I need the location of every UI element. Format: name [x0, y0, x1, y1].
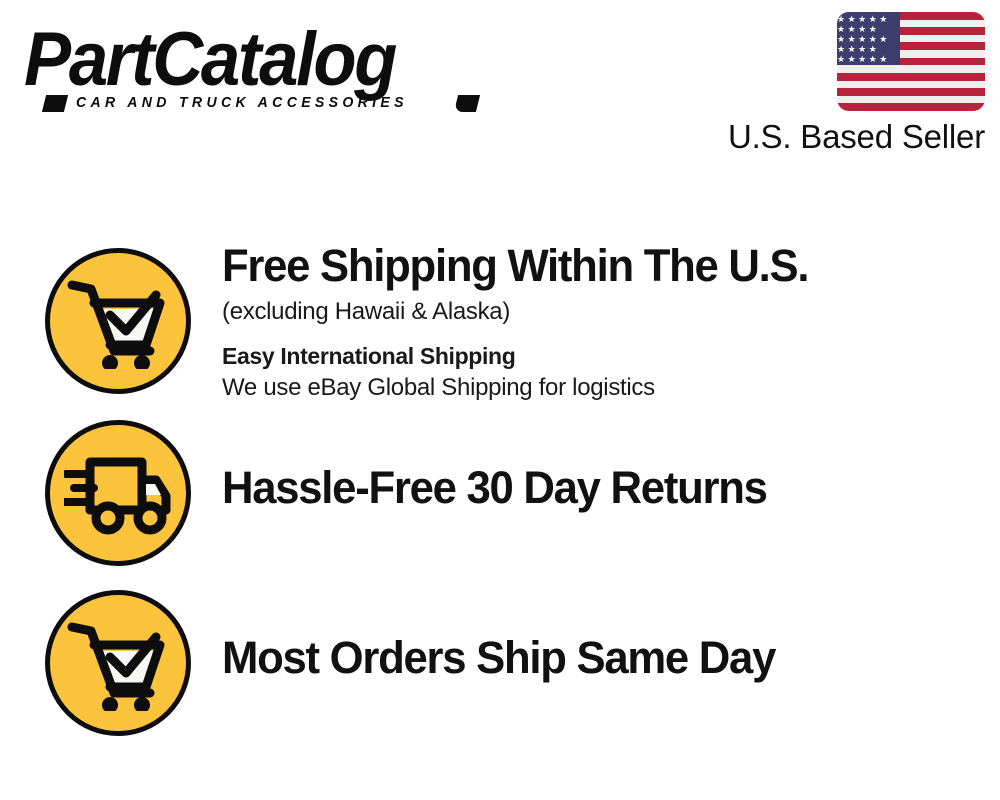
benefit-text-group: Most Orders Ship Same Day	[222, 632, 982, 684]
benefit-row: Free Shipping Within The U.S. (excluding…	[0, 248, 1000, 408]
benefit-list: Free Shipping Within The U.S. (excluding…	[0, 0, 1000, 800]
benefit-text-group: Hassle-Free 30 Day Returns	[222, 462, 982, 514]
delivery-truck-icon	[45, 420, 191, 566]
benefit-subline: We use eBay Global Shipping for logistic…	[222, 372, 982, 404]
seller-info-banner: PartCatalog CAR AND TRUCK ACCESSORIES ★ …	[0, 0, 1000, 800]
benefit-headline: Free Shipping Within The U.S.	[222, 240, 959, 292]
benefit-row: Most Orders Ship Same Day	[0, 590, 1000, 740]
benefit-text-group: Free Shipping Within The U.S. (excluding…	[222, 240, 982, 404]
benefit-subline: Easy International Shipping	[222, 340, 982, 372]
benefit-subline: (excluding Hawaii & Alaska)	[222, 296, 982, 328]
benefit-headline: Most Orders Ship Same Day	[222, 632, 959, 684]
shopping-cart-check-icon	[45, 248, 191, 394]
benefit-row: Hassle-Free 30 Day Returns	[0, 420, 1000, 570]
shopping-cart-check-icon	[45, 590, 191, 736]
benefit-headline: Hassle-Free 30 Day Returns	[222, 462, 959, 514]
